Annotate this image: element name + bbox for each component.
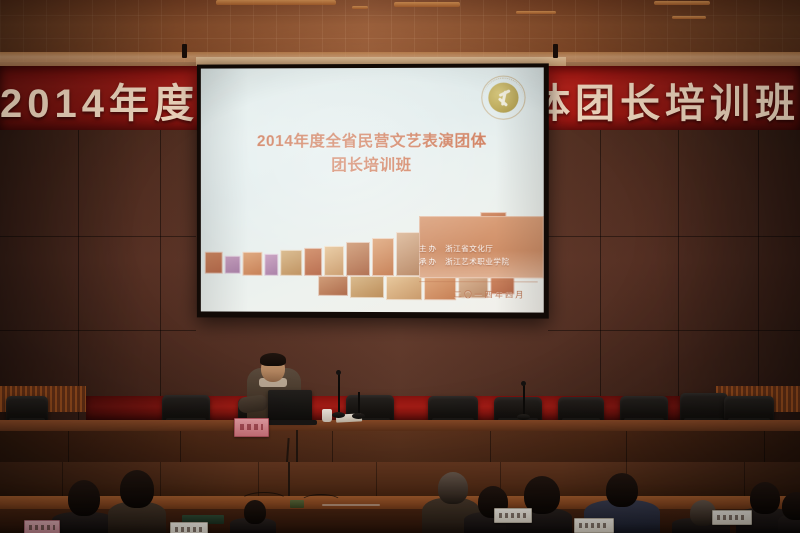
wall-panel-seam [678,130,679,420]
collage-tile [424,276,456,300]
co-organizer-label: 承办 [419,257,438,266]
collage-tile [225,256,241,274]
microphone-base [517,414,530,420]
audience-person-head [438,472,468,504]
foreground-panel-seam [160,462,161,498]
collage-tile [324,246,344,276]
ceiling-light [672,16,706,19]
organizer-row: 主办浙江省文化厅 [419,242,538,255]
collage-tile [280,250,302,276]
organizer-label: 主办 [419,244,438,253]
speaker-hair [260,353,286,366]
ceiling-light [352,6,368,9]
microphone-head-icon [336,370,341,375]
ceiling-light [394,2,460,7]
screen-mount-hook-right [553,44,558,58]
audience-name-placard [24,520,60,533]
microphone-base [352,413,365,419]
screen-mount-hook-left [182,44,187,58]
speaker-nameplate [234,418,269,437]
audience-person-head [68,480,100,516]
wall-panel-seam [0,236,196,237]
slide-date: 二〇一四年四月 [454,289,526,300]
audience-person-head [244,500,266,524]
organizer-value: 浙江省文化厅 [445,244,493,253]
hanging-cable [288,462,290,496]
foreground-panel-seam [744,462,745,498]
ceiling-light [216,0,336,5]
microphone-head-icon [521,381,526,386]
audience-person-head [606,473,638,507]
wall-panel-seam [548,236,800,237]
academy-emblem-icon [481,76,525,120]
slide-title-line2: 团长培训班 [201,154,544,178]
white-cable [322,504,380,506]
audience-name-placard [712,510,752,525]
audience-person-head [782,492,800,520]
microphone-stem [338,374,340,414]
collage-tile [372,238,394,276]
ceiling-light [654,1,710,5]
co-organizer-row: 承办浙江艺术职业学院 [419,255,538,268]
slide-title-line1: 2014年度全省民营文艺表演团体 [257,133,487,150]
wall-panel-seam [160,130,161,420]
slide-title: 2014年度全省民营文艺表演团体 团长培训班 [201,130,544,178]
collage-tile [304,248,322,276]
collage-tile [264,254,278,276]
co-organizer-value: 浙江艺术职业学院 [445,257,509,266]
wall-panel-seam [600,130,601,420]
wall-panel-seam [548,330,800,331]
wall-panel-seam [758,130,759,420]
laptop-base [263,420,317,425]
collage-tile [318,276,348,296]
audience-person-head [120,470,154,508]
microphone-base [332,412,345,418]
collage-tile [350,276,384,298]
banner-text-right: 体团长培训班 [530,71,800,129]
projection-screen-frame: 2014年度全省民营文艺表演团体 团长培训班 [197,63,549,318]
collage-tile [242,252,262,276]
slide-organizer-info: 主办浙江省文化厅 承办浙江艺术职业学院 [411,242,538,269]
collage-tile [205,252,223,274]
audience-person-head [750,482,780,514]
banner-text-left: 2014年度 [0,71,199,129]
audience-name-placard [170,522,208,533]
audience-name-placard [494,508,532,523]
audience-name-placard [574,518,614,533]
collage-tile [346,242,370,276]
projection-screen: 2014年度全省民营文艺表演团体 团长培训班 [201,67,544,312]
conference-hall-photo: 2014年度 体团长培训班 2014年度全省民营文艺表演团体 团长培训班 [0,0,800,533]
microphone-stem [523,385,525,417]
water-cup [322,409,332,422]
laptop-screen [268,390,312,422]
foreground-panel-seam [62,462,63,498]
foreground-panel-seam [376,462,377,498]
coiled-cable [300,494,342,510]
ceiling-light [516,11,556,14]
collage-tile [386,276,422,300]
wall-panel-seam [78,130,79,420]
wall-panel-seam [0,330,196,331]
